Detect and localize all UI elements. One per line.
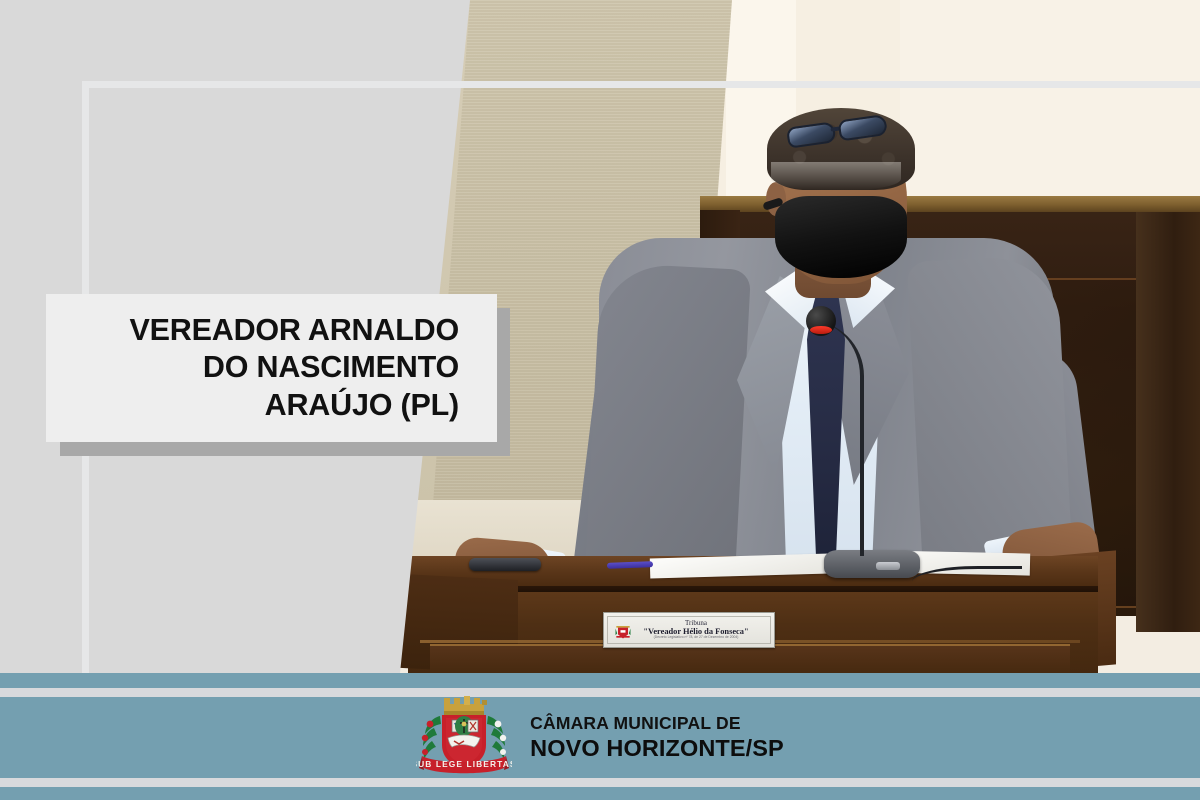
page-title: VEREADOR ARNALDO DO NASCIMENTO ARAÚJO (P… — [46, 312, 497, 424]
coat-of-arms-icon: SUB LEGE LIBERTAS — [416, 694, 512, 782]
organization-name: CÂMARA MUNICIPAL DE NOVO HORIZONTE/SP — [530, 715, 784, 760]
title-card: VEREADOR ARNALDO DO NASCIMENTO ARAÚJO (P… — [46, 294, 497, 442]
banner-stripe-top — [0, 673, 1200, 688]
page-title-line-3: ARAÚJO (PL) — [46, 387, 459, 424]
crest-motto-text: SUB LEGE LIBERTAS — [416, 759, 512, 769]
plaque-crest-icon — [613, 621, 633, 641]
podium-front-panel — [430, 644, 1070, 673]
banner-stripe-bottom — [0, 787, 1200, 800]
plaque-line-3: (Decreto Legislativo nº 78, de 27 de Dez… — [643, 636, 748, 640]
wood-panel-column — [1136, 212, 1200, 632]
microphone-gooseneck — [808, 320, 864, 556]
organization-line-1: CÂMARA MUNICIPAL DE — [530, 715, 784, 733]
page-title-line-1: VEREADOR ARNALDO — [46, 312, 459, 349]
promo-graphic: Tribuna "Vereador Hélio da Fonseca" (Dec… — [0, 0, 1200, 800]
banner-gap-top — [0, 688, 1200, 697]
tribune-plaque-inner: Tribuna "Vereador Hélio da Fonseca" (Dec… — [607, 616, 771, 644]
banner-content: SUB LEGE LIBERTAS CÂMARA MUNICIPAL DE NO… — [0, 697, 1200, 778]
microphone-indicator-ring — [810, 326, 832, 334]
sunglasses-lens-left — [786, 121, 836, 148]
page-title-line-2: DO NASCIMENTO — [46, 349, 459, 386]
hair-grey-temple — [771, 162, 901, 190]
sunglasses-lens-right — [838, 114, 888, 141]
tribune-plaque: Tribuna "Vereador Hélio da Fonseca" (Dec… — [603, 612, 775, 648]
organization-line-2: NOVO HORIZONTE/SP — [530, 737, 784, 761]
suit-shoulder-left — [585, 262, 751, 581]
face-mask — [775, 196, 907, 278]
smartphone — [469, 558, 541, 571]
gray-overlay-frame-top-rule — [82, 81, 1200, 88]
tribune-plaque-text: Tribuna "Vereador Hélio da Fonseca" (Dec… — [629, 620, 748, 640]
microphone-button — [876, 562, 900, 570]
banner-gap-bottom — [0, 778, 1200, 787]
plaque-line-1: Tribuna — [643, 620, 748, 628]
